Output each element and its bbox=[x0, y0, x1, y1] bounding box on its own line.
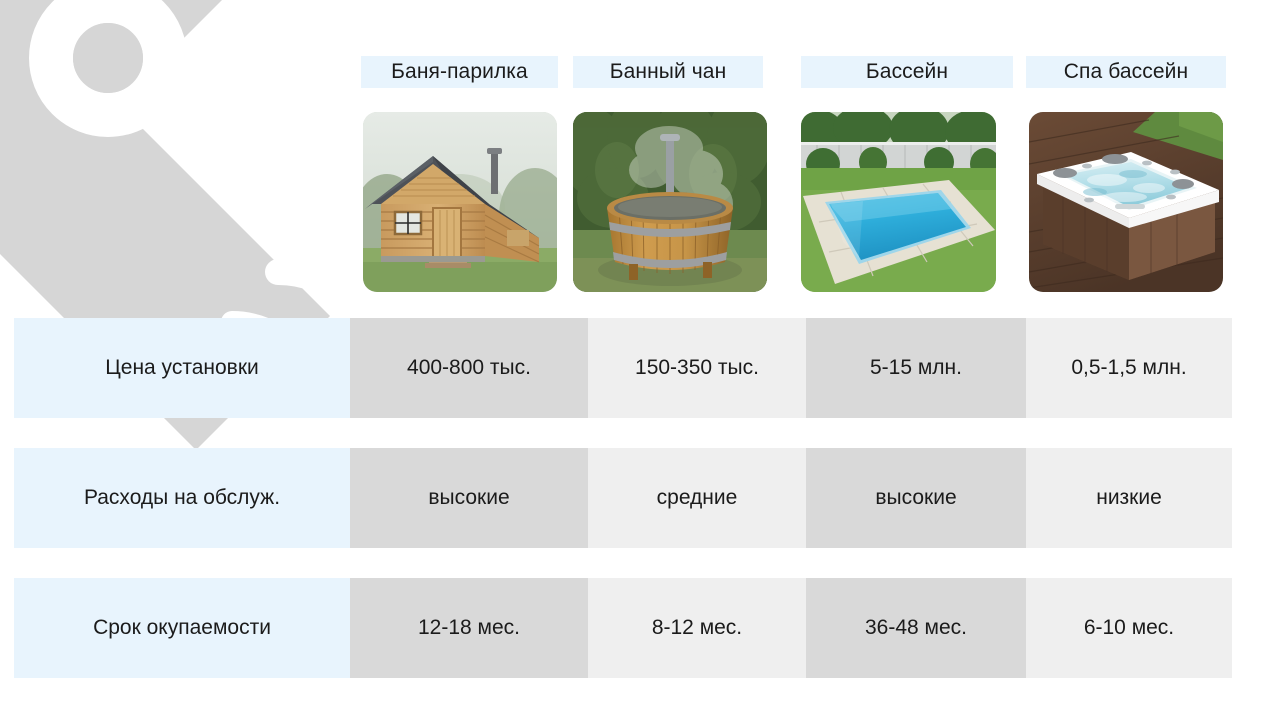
cell-value: 12-18 мес. bbox=[418, 616, 520, 640]
row-label-payback: Срок окупаемости bbox=[14, 578, 350, 678]
cell-value: высокие bbox=[428, 486, 509, 510]
row-label-text: Расходы на обслуж. bbox=[84, 486, 280, 510]
cell-price-banya: 400-800 тыс. bbox=[350, 318, 588, 418]
swimming-pool-photo bbox=[801, 112, 996, 292]
column-header-banya: Баня-парилка bbox=[361, 56, 558, 88]
cell-maintenance-pool: высокие bbox=[806, 448, 1026, 548]
comparison-table-page: Баня-парилка Банный чан Бассейн Спа басс… bbox=[0, 0, 1280, 724]
row-label-text: Цена установки bbox=[105, 356, 259, 380]
cell-payback-chan: 8-12 мес. bbox=[588, 578, 806, 678]
hot-tub-barrel-photo bbox=[573, 112, 767, 292]
sauna-cabin-photo bbox=[363, 112, 557, 292]
cell-payback-spa: 6-10 мес. bbox=[1026, 578, 1232, 678]
column-header-label: Банный чан bbox=[610, 60, 727, 84]
column-header-label: Бассейн bbox=[866, 60, 948, 84]
cell-price-pool: 5-15 млн. bbox=[806, 318, 1026, 418]
cell-price-spa: 0,5-1,5 млн. bbox=[1026, 318, 1232, 418]
column-header-spa: Спа бассейн bbox=[1026, 56, 1226, 88]
cell-value: низкие bbox=[1096, 486, 1162, 510]
column-header-label: Спа бассейн bbox=[1064, 60, 1188, 84]
row-label-maintenance: Расходы на обслуж. bbox=[14, 448, 350, 548]
row-label-text: Срок окупаемости bbox=[93, 616, 271, 640]
cell-maintenance-spa: низкие bbox=[1026, 448, 1232, 548]
cell-value: 0,5-1,5 млн. bbox=[1071, 356, 1186, 380]
cell-value: 36-48 мес. bbox=[865, 616, 967, 640]
cell-price-chan: 150-350 тыс. bbox=[588, 318, 806, 418]
spa-jacuzzi-photo bbox=[1029, 112, 1223, 292]
cell-maintenance-banya: высокие bbox=[350, 448, 588, 548]
cell-value: высокие bbox=[875, 486, 956, 510]
cell-value: 6-10 мес. bbox=[1084, 616, 1174, 640]
cell-value: 8-12 мес. bbox=[652, 616, 742, 640]
cell-value: 400-800 тыс. bbox=[407, 356, 531, 380]
column-header-label: Баня-парилка bbox=[391, 60, 528, 84]
column-header-pool: Бассейн bbox=[801, 56, 1013, 88]
row-label-price: Цена установки bbox=[14, 318, 350, 418]
cell-value: 5-15 млн. bbox=[870, 356, 962, 380]
cell-value: средние bbox=[657, 486, 738, 510]
cell-payback-banya: 12-18 мес. bbox=[350, 578, 588, 678]
column-header-chan: Банный чан bbox=[573, 56, 763, 88]
cell-payback-pool: 36-48 мес. bbox=[806, 578, 1026, 678]
cell-value: 150-350 тыс. bbox=[635, 356, 759, 380]
cell-maintenance-chan: средние bbox=[588, 448, 806, 548]
